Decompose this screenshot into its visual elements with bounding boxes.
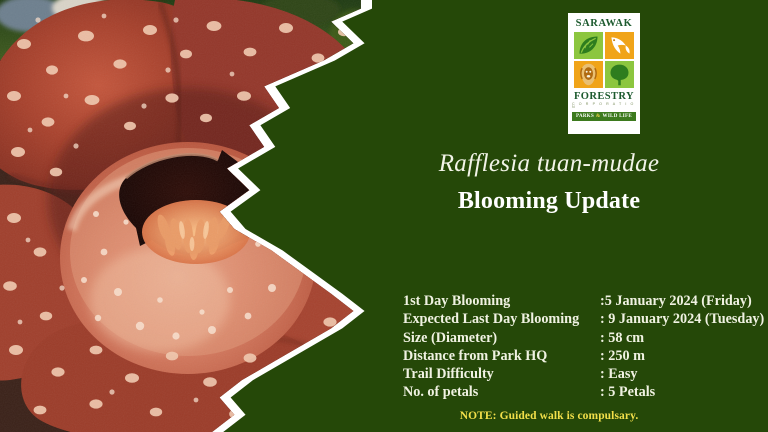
row-label: 1st Day Blooming (403, 292, 600, 310)
rafflesia-photo-panel (0, 0, 372, 432)
row-value: :5 January 2024 (Friday) (600, 292, 763, 310)
tree-icon (605, 61, 634, 88)
blooming-update-poster: SARAWAK (0, 0, 768, 432)
table-row: Distance from Park HQ : 250 m (403, 347, 763, 365)
hornbill-bird-icon (605, 32, 634, 59)
rafflesia-photo (0, 0, 372, 432)
logo-tagline-ampersand: & (596, 114, 600, 119)
table-row: Expected Last Day Blooming : 9 January 2… (403, 310, 763, 328)
page-title-species: Rafflesia tuan-mudae (330, 150, 768, 178)
table-row: Size (Diameter) : 58 cm (403, 329, 763, 347)
logo-wordmark-sarawak: SARAWAK (576, 18, 633, 30)
row-label: Expected Last Day Blooming (403, 310, 600, 328)
table-row: No. of petals : 5 Petals (403, 383, 763, 401)
sarawak-forestry-logo: SARAWAK (568, 13, 640, 134)
row-value: : 5 Petals (600, 383, 763, 401)
bloom-details-table: 1st Day Blooming :5 January 2024 (Friday… (403, 292, 763, 402)
rafflesia-flower-illustration (0, 0, 372, 432)
orangutan-icon (574, 61, 603, 88)
note-text: NOTE: Guided walk is compulsary. (330, 410, 768, 422)
row-value: : 58 cm (600, 329, 763, 347)
row-label: Distance from Park HQ (403, 347, 600, 365)
row-label: Trail Difficulty (403, 365, 600, 383)
logo-tagline-bar: PARKS & WILD LIFE (572, 112, 636, 121)
logo-wordmark-forestry: FORESTRY (574, 91, 634, 102)
row-label: Size (Diameter) (403, 329, 600, 347)
row-value: : 250 m (600, 347, 763, 365)
logo-tagline-wildlife: WILD LIFE (603, 114, 633, 119)
logo-wordmark-corporation: C O R P O R A T I O N (572, 103, 636, 110)
table-row: Trail Difficulty : Easy (403, 365, 763, 383)
row-value: : Easy (600, 365, 763, 383)
logo-tagline-parks: PARKS (576, 114, 594, 119)
info-panel: SARAWAK (330, 0, 768, 432)
logo-icon-grid (574, 32, 634, 88)
row-label: No. of petals (403, 383, 600, 401)
leaf-icon (574, 32, 603, 59)
page-title-subtitle: Blooming Update (330, 188, 768, 215)
table-row: 1st Day Blooming :5 January 2024 (Friday… (403, 292, 763, 310)
row-value: : 9 January 2024 (Tuesday) (600, 310, 764, 328)
